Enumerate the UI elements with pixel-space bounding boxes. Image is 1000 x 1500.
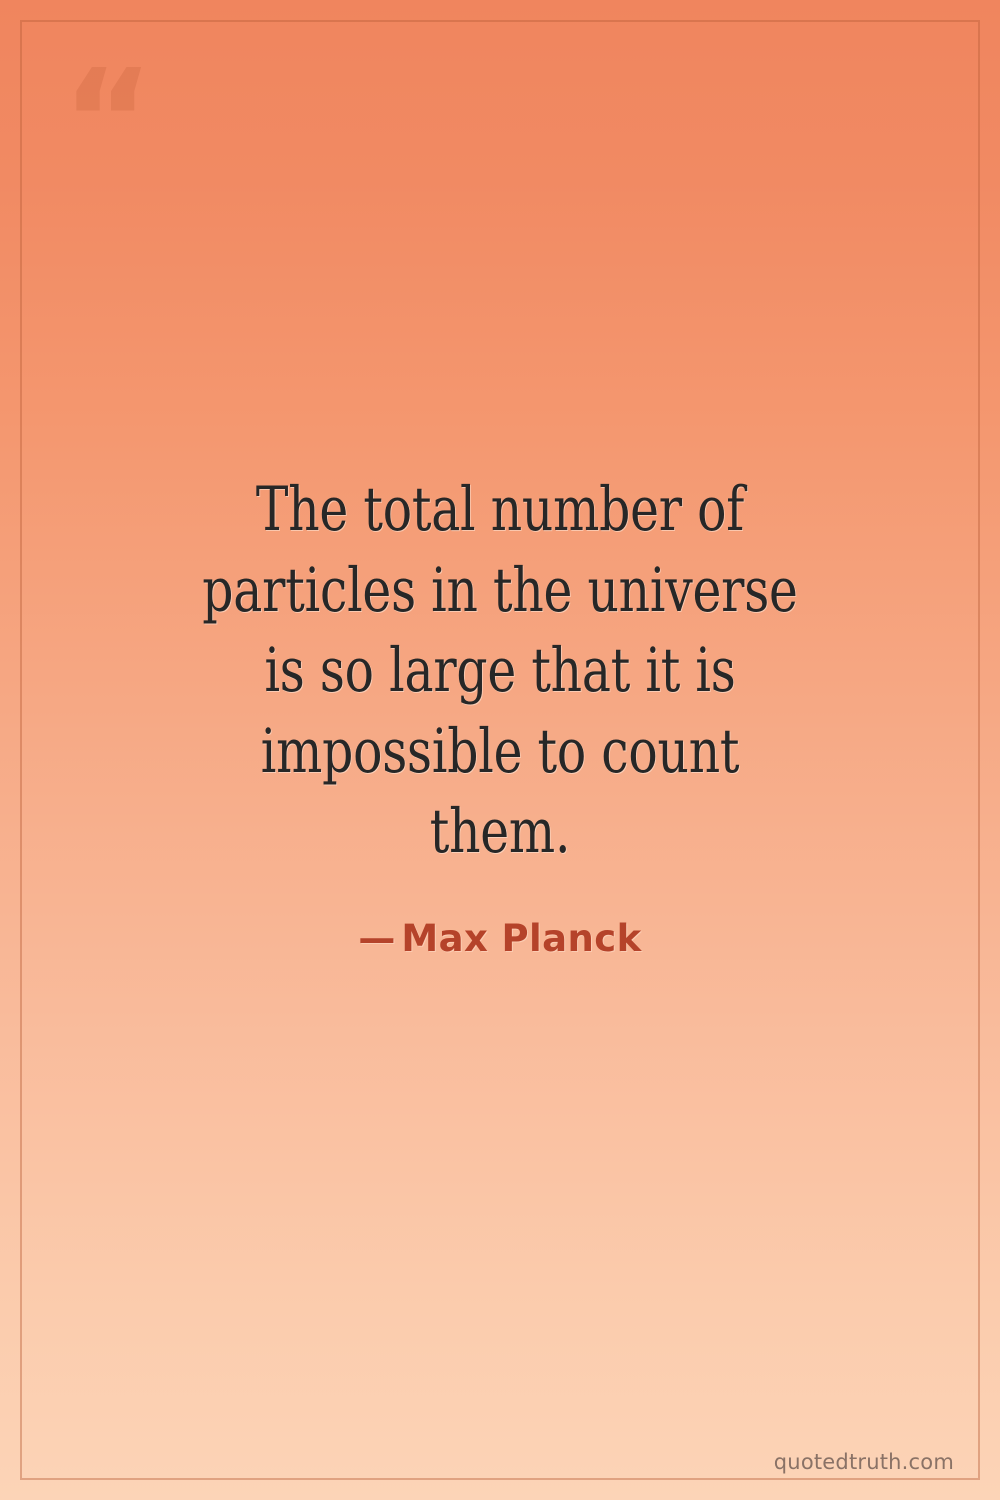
quote-content-block: The total number of particles in the uni… bbox=[0, 470, 1000, 960]
quote-attribution: —Max Planck bbox=[358, 873, 641, 960]
site-watermark: quotedtruth.com bbox=[774, 1450, 954, 1474]
quote-poster: “ The total number of particles in the u… bbox=[0, 0, 1000, 1500]
attribution-dash: — bbox=[358, 917, 401, 960]
opening-quote-icon: “ bbox=[62, 52, 154, 192]
attribution-author-name: Max Planck bbox=[401, 917, 641, 960]
quote-text: The total number of particles in the uni… bbox=[184, 470, 816, 873]
